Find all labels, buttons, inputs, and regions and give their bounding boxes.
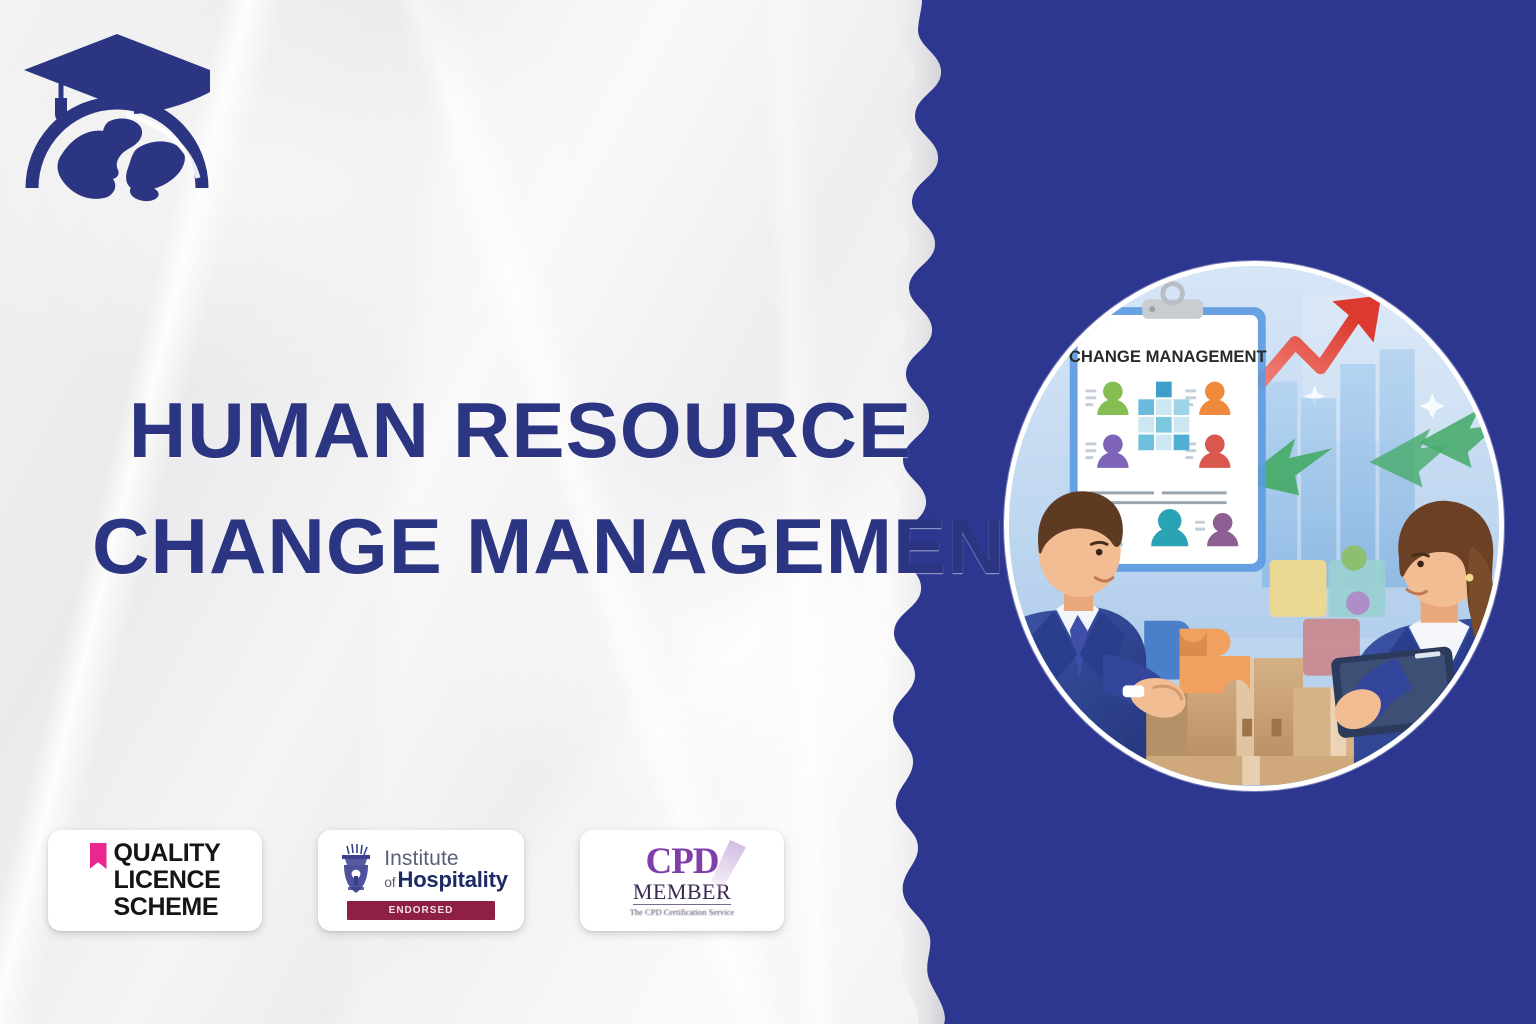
badge-cpd-member[interactable]: CPD MEMBER The CPD Certification Service [580, 830, 784, 931]
page-title-line-1: HUMAN RESOURCE [92, 372, 867, 488]
accreditation-badges: QUALITY LICENCE SCHEME [48, 830, 784, 931]
qls-line-1: QUALITY [114, 840, 221, 867]
qls-line-3: SCHEME [114, 894, 221, 921]
cpd-subtitle: MEMBER [633, 880, 731, 905]
illustration-artwork: CHANGE MANAGEMENT [1009, 266, 1499, 785]
poster-canvas: HUMAN RESOURCE CHANGE MANAGEMENT QUALITY… [0, 0, 1536, 1024]
ioh-of: of [384, 874, 395, 890]
brand-logo[interactable] [14, 26, 219, 221]
cpd-title: CPD [645, 844, 718, 880]
bookmark-icon [90, 843, 107, 869]
page-title: HUMAN RESOURCE CHANGE MANAGEMENT [92, 372, 852, 604]
ioh-line-1: Institute [384, 848, 508, 869]
svg-text:CHANGE MANAGEMENT: CHANGE MANAGEMENT [1069, 347, 1267, 366]
badge-institute-of-hospitality[interactable]: Institute ofHospitality ENDORSED [318, 830, 524, 931]
change-management-illustration: CHANGE MANAGEMENT [1004, 261, 1504, 791]
heraldic-crest-icon [334, 842, 378, 898]
ioh-line-2: Hospitality [398, 867, 508, 892]
cpd-fine-print: The CPD Certification Service [612, 907, 752, 917]
ioh-endorsed-ribbon: ENDORSED [347, 901, 495, 920]
qls-line-2: LICENCE [114, 867, 221, 894]
page-title-line-2: CHANGE MANAGEMENT [92, 488, 867, 604]
graduation-cap-globe-icon [14, 26, 219, 221]
badge-quality-licence-scheme[interactable]: QUALITY LICENCE SCHEME [48, 830, 262, 931]
